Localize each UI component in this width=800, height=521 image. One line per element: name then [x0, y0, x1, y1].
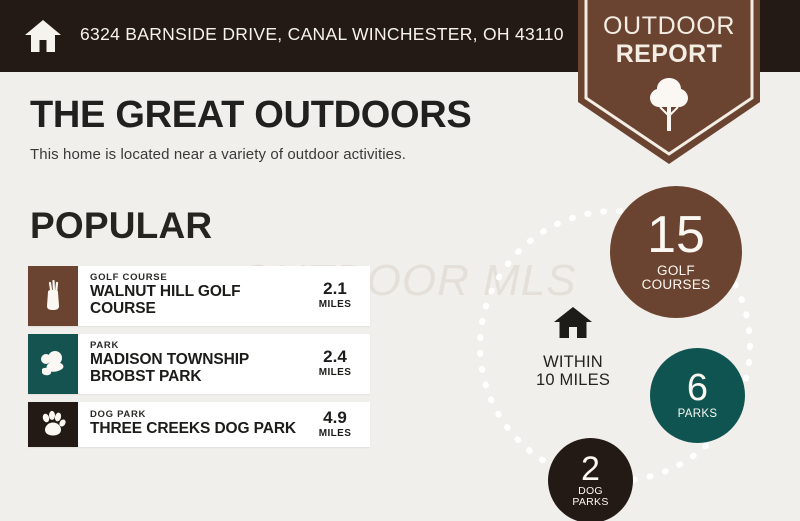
distance-unit: MILES [308, 428, 362, 439]
item-name: MADISON TOWNSHIP BROBST PARK [90, 352, 308, 385]
badge-line-1: OUTDOOR [576, 14, 762, 39]
stat-circle-golf-courses[interactable]: 15 GOLF COURSES [610, 186, 742, 318]
badge-line-2: REPORT [576, 42, 762, 67]
page-title: THE GREAT OUTDOORS [30, 96, 471, 134]
item-category: DOG PARK [90, 410, 308, 420]
parks-count: 6 [687, 370, 708, 406]
page-subtitle: This home is located near a variety of o… [30, 146, 406, 163]
item-category: PARK [90, 341, 308, 351]
distance-value: 2.4 [308, 348, 362, 365]
distance-unit: MILES [308, 367, 362, 378]
outdoor-report-badge: OUTDOOR REPORT [576, 0, 762, 166]
stat-circle-parks[interactable]: 6 PARKS [650, 348, 745, 443]
distance-unit: MILES [308, 299, 362, 310]
house-icon [508, 306, 638, 345]
item-category: GOLF COURSE [90, 273, 308, 283]
golf-courses-label-1: GOLF [657, 264, 695, 279]
golf-courses-count: 15 [647, 211, 705, 260]
park-tree-icon [28, 334, 78, 394]
list-item[interactable]: PARK MADISON TOWNSHIP BROBST PARK 2.4 MI… [28, 334, 370, 394]
item-distance: 2.4 MILES [308, 348, 366, 378]
outdoor-report-page: 6324 BARNSIDE DRIVE, CANAL WINCHESTER, O… [0, 0, 800, 521]
golf-bag-icon [28, 266, 78, 326]
center-line-2: 10 MILES [508, 371, 638, 389]
item-distance: 4.9 MILES [308, 409, 366, 439]
item-name: THREE CREEKS DOG PARK [90, 421, 308, 438]
paw-print-icon [28, 402, 78, 447]
list-item[interactable]: GOLF COURSE WALNUT HILL GOLF COURSE 2.1 … [28, 266, 370, 326]
item-name: WALNUT HILL GOLF COURSE [90, 284, 308, 317]
item-distance: 2.1 MILES [308, 280, 366, 310]
center-summary: WITHIN 10 MILES [508, 306, 638, 390]
list-item[interactable]: DOG PARK THREE CREEKS DOG PARK 4.9 MILES [28, 402, 370, 447]
summary-diagram: WITHIN 10 MILES 15 GOLF COURSES 6 PARKS … [470, 168, 800, 521]
golf-courses-label-2: COURSES [642, 278, 711, 293]
house-icon [24, 18, 62, 54]
popular-list: GOLF COURSE WALNUT HILL GOLF COURSE 2.1 … [28, 266, 370, 455]
parks-label-1: PARKS [678, 408, 718, 420]
center-line-1: WITHIN [508, 353, 638, 371]
distance-value: 4.9 [308, 409, 362, 426]
popular-heading: POPULAR [30, 207, 212, 244]
dog-parks-label-2: PARKS [572, 497, 608, 508]
dog-parks-count: 2 [581, 453, 600, 485]
stat-circle-dog-parks[interactable]: 2 DOG PARKS [548, 438, 633, 521]
distance-value: 2.1 [308, 280, 362, 297]
property-address: 6324 BARNSIDE DRIVE, CANAL WINCHESTER, O… [80, 24, 564, 45]
